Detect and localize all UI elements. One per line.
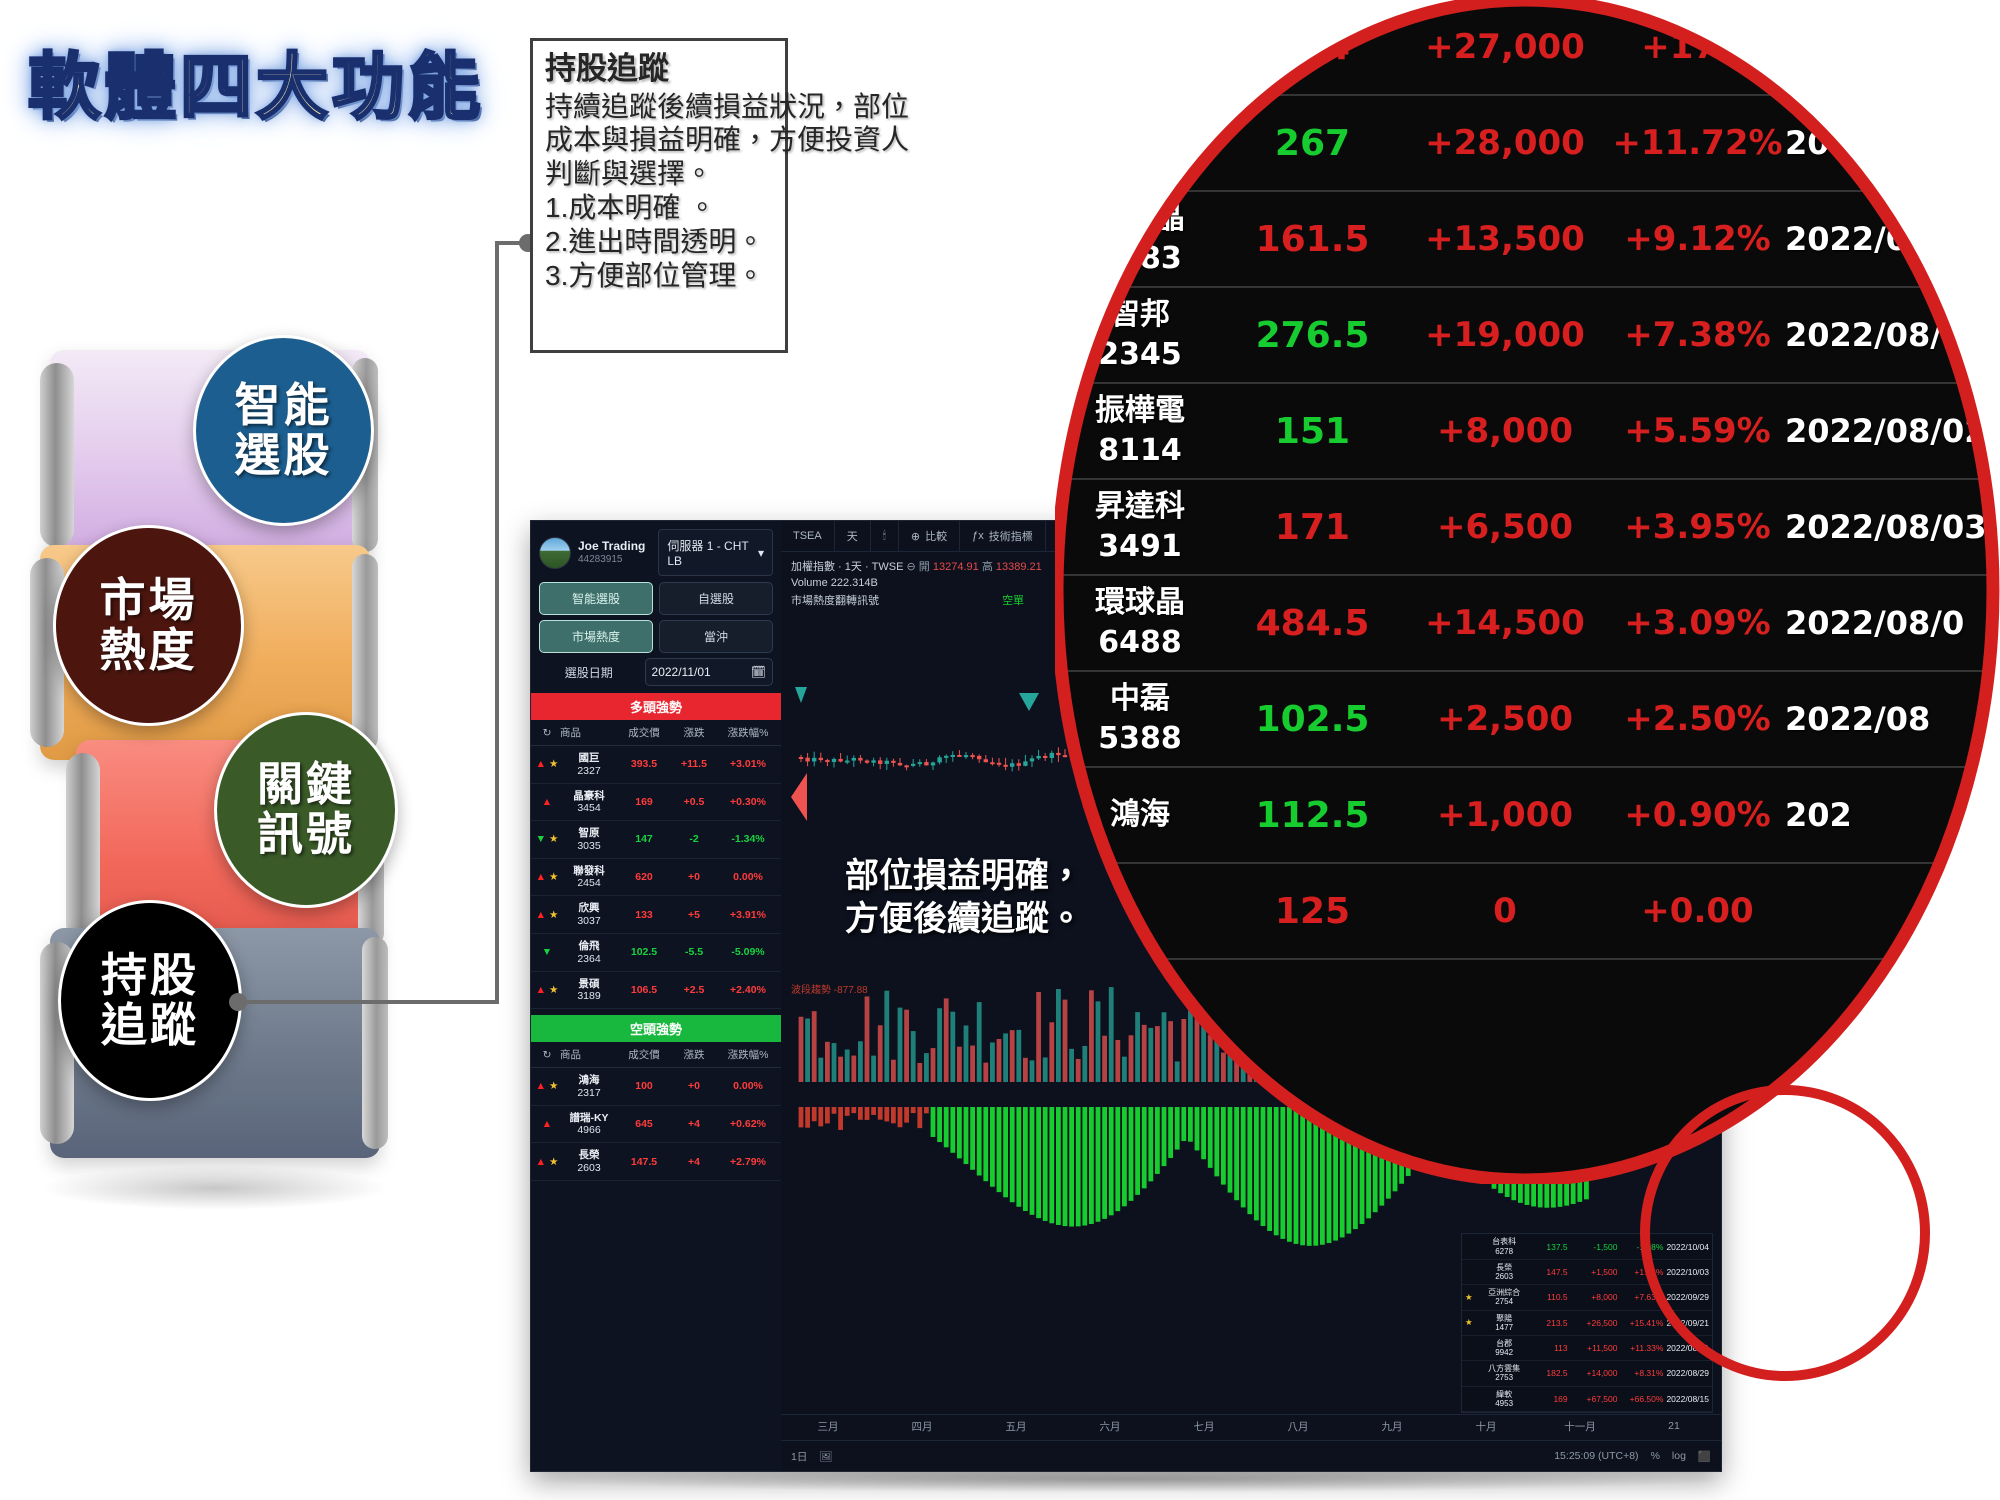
bubble-market-heat[interactable]: 市場 熱度 — [53, 525, 244, 726]
short-label: 空單 — [1002, 595, 1024, 607]
drum-rim-icon — [66, 753, 100, 942]
magnified-stock-name: 昇達科3491 — [1055, 487, 1225, 568]
magnified-price: 171 — [1225, 507, 1400, 548]
holding-name: 緯軟4953 — [1477, 1390, 1532, 1408]
server-select[interactable]: 伺服器 1 - CHT LB ▾ — [658, 529, 773, 576]
avatar — [539, 537, 571, 569]
star-icon[interactable]: ★ — [1465, 1317, 1474, 1328]
list-item[interactable]: ★聚陽1477213.5+26,500+15.41%2022/09/21 — [1462, 1311, 1712, 1336]
holding-pct: +11.33% — [1621, 1343, 1664, 1353]
magnified-holdings-region: 484+27,000+17.208267+28,000+11.72%2022中美… — [1055, 0, 2000, 1180]
volume-label: Volume — [791, 577, 828, 589]
bubble-label-line1: 智能 — [235, 381, 333, 431]
stock-name: 聯發科 — [560, 865, 618, 878]
magnified-price: 125 — [1225, 891, 1400, 932]
time-axis: 三月 四月 五月 六月 七月 八月 九月 十月 十一月 21 — [781, 1414, 1721, 1437]
stock-price: 169 — [618, 796, 670, 808]
magnified-price: 276.5 — [1225, 315, 1400, 356]
stock-change-pct: +3.91% — [718, 909, 778, 921]
stock-price: 106.5 — [618, 984, 670, 996]
stock-change-pct: -5.09% — [718, 946, 778, 958]
stock-code: 3037 — [560, 915, 618, 927]
holding-name: 聚陽1477 — [1477, 1314, 1532, 1332]
table-row: 智邦2345276.5+19,000+7.38%2022/08/0 — [1055, 288, 2000, 384]
table-row: 鴻海112.5+1,000+0.90%202 — [1055, 768, 2000, 864]
list-item[interactable]: 八方雲集2753182.5+14,000+8.31%2022/08/29 — [1462, 1361, 1712, 1386]
callout-line: 持續追蹤後續損益狀況，部位 — [545, 90, 777, 124]
table-row: 1250+0.00 — [1055, 864, 2000, 960]
star-icon[interactable]: ★ — [549, 1080, 558, 1092]
chart-info-text: 加權指數 · 1天 · TWSE — [791, 561, 903, 573]
magnified-price: 112.5 — [1225, 795, 1400, 836]
open-label: 開 — [919, 561, 930, 573]
refresh-icon[interactable]: ↻ — [534, 727, 560, 739]
holding-pl: +67,500 — [1571, 1394, 1618, 1404]
bubble-label-line1: 市場 — [100, 576, 198, 626]
x-tick: 八月 — [1251, 1419, 1345, 1434]
holding-pct: +1.03% — [1621, 1267, 1664, 1277]
bubble-label-line2: 追蹤 — [101, 1001, 199, 1051]
x-tick: 四月 — [875, 1419, 969, 1434]
x-tick: 十月 — [1439, 1419, 1533, 1434]
direction-icon: ▲ — [542, 1118, 552, 1130]
drum-shadow — [40, 1166, 390, 1210]
candlestick-icon[interactable]: 🕯 — [871, 521, 899, 551]
holding-name: 亞洲綜合2754 — [1477, 1288, 1532, 1306]
magnified-price: 484.5 — [1225, 603, 1400, 644]
macd-label: 波段趨勢 -877.88 — [791, 981, 868, 996]
log-scale-button[interactable]: log — [1672, 1450, 1686, 1462]
table-row[interactable]: ▲ ★國巨2327393.5+11.5+3.01% — [531, 746, 781, 784]
stock-code: 2364 — [560, 953, 618, 965]
magnified-price: 267 — [1225, 123, 1400, 164]
callout-line: 成本與損益明確，方便投資人 — [545, 123, 777, 157]
stock-code: 2454 — [560, 877, 618, 889]
bubble-label-line2: 選股 — [235, 431, 333, 481]
x-tick: 九月 — [1345, 1419, 1439, 1434]
stock-change-pct: -1.34% — [718, 833, 778, 845]
stock-change: +11.5 — [670, 758, 718, 770]
bubble-key-signal[interactable]: 關鍵 訊號 — [214, 712, 398, 908]
magnified-pct: +3.09% — [1610, 603, 1785, 643]
table-row: 昇達科3491171+6,500+3.95%2022/08/03 — [1055, 480, 2000, 576]
indicator-label: 技術指標 — [989, 528, 1033, 544]
stock-price: 620 — [618, 871, 670, 883]
stock-code: 4966 — [560, 1124, 618, 1136]
magnified-date: 2022/08/03 — [1785, 508, 2000, 546]
stock-price: 100 — [618, 1080, 670, 1092]
compare-button[interactable]: ⊕ 比較 — [899, 521, 960, 551]
stock-change-pct: +2.40% — [718, 984, 778, 996]
bubble-label-line2: 訊號 — [257, 810, 355, 860]
star-icon[interactable]: ★ — [549, 758, 558, 770]
calendar-icon[interactable]: 🗓 — [751, 665, 766, 679]
holding-price: 213.5 — [1534, 1318, 1567, 1328]
holding-price: 113 — [1534, 1343, 1567, 1353]
list-item[interactable]: 緯軟4953169+67,500+66.50%2022/08/15 — [1462, 1387, 1712, 1412]
stock-change-pct: +3.01% — [718, 758, 778, 770]
magnified-pl: +1,000 — [1400, 795, 1610, 835]
table-row: 中磊5388102.5+2,500+2.50%2022/08 — [1055, 672, 2000, 768]
list-item[interactable]: 長榮2603147.5+1,500+1.03%2022/10/03 — [1462, 1260, 1712, 1285]
x-tick: 21 — [1627, 1420, 1721, 1432]
tab-watchlist[interactable]: 自選股 — [659, 582, 773, 615]
magnified-stock-code: 3491 — [1055, 527, 1225, 568]
magnified-date: 2022/08/0 — [1785, 604, 2000, 642]
direction-icon: ▼ — [536, 833, 546, 845]
table-row[interactable]: ▲ ★鴻海2317100+00.00% — [531, 1068, 781, 1106]
bear-rows: ▲ ★鴻海2317100+00.00%▲譜瑞-KY4966645+4+0.62%… — [531, 1068, 781, 1181]
bubble-label-line1: 關鍵 — [257, 760, 355, 810]
auto-fit-icon[interactable]: ⬛ — [1698, 1450, 1711, 1463]
stock-change-pct: +0.30% — [718, 796, 778, 808]
stock-change: -5.5 — [670, 946, 718, 958]
magnified-stock-code: 5483 — [1055, 239, 1225, 280]
drum-rim-icon — [362, 937, 388, 1149]
stock-code: 3189 — [560, 990, 618, 1002]
stock-change-pct: 0.00% — [718, 871, 778, 883]
callout-line: 判斷與選擇。 — [545, 157, 777, 191]
magnified-pct: +17.2 — [1610, 27, 1785, 67]
tab-row-1: 智能選股 自選股 — [531, 582, 781, 620]
magnified-stock-name: 智邦2345 — [1055, 295, 1225, 376]
holding-pl: +1,500 — [1571, 1267, 1618, 1277]
holding-date: 2022/09/21 — [1666, 1318, 1709, 1328]
holding-pct: +8.31% — [1621, 1368, 1664, 1378]
holding-date: 2022/08/15 — [1666, 1394, 1709, 1404]
drum-rim-icon — [352, 554, 378, 752]
collapse-icon[interactable]: ⊖ — [907, 561, 919, 573]
chart-status-bar: 1日 🖼 15:25:09 (UTC+8) % log ⬛ — [781, 1440, 1721, 1471]
interval-1d-button[interactable]: 1日 — [791, 1449, 807, 1464]
table-row[interactable]: ▲ ★景碩3189106.5+2.5+2.40% — [531, 972, 781, 1010]
holding-pl: +14,000 — [1571, 1368, 1618, 1378]
star-icon[interactable]: ★ — [549, 909, 558, 921]
chart-interval[interactable]: 天 — [835, 521, 871, 551]
bull-section-header: 多頭強勢 — [531, 693, 781, 720]
plus-circle-icon: ⊕ — [911, 530, 920, 543]
bear-table-header: ↻ 商品 成交價 漲跌 漲跌幅% — [531, 1042, 781, 1068]
magnified-pct: +7.38% — [1610, 315, 1785, 355]
callout-box: 持股追蹤 持續追蹤後續損益狀況，部位 成本與損益明確，方便投資人 判斷與選擇。 … — [530, 38, 788, 353]
holding-price: 110.5 — [1534, 1292, 1567, 1302]
col-product: 商品 — [560, 1047, 618, 1062]
table-row[interactable]: ▼倫飛2364102.5-5.5-5.09% — [531, 934, 781, 972]
holding-date: 2022/08/29 — [1666, 1368, 1709, 1378]
callout-line: 2.進出時間透明。 — [545, 225, 777, 259]
magnified-price: 484 — [1225, 27, 1400, 68]
table-row: 08267+28,000+11.72%2022 — [1055, 96, 2000, 192]
list-item[interactable]: ★亞洲綜合2754110.5+8,000+7.63%2022/09/29 — [1462, 1285, 1712, 1310]
chevron-down-icon: ▾ — [758, 546, 764, 560]
magnified-pl: +28,000 — [1400, 123, 1610, 163]
status-time: 15:25:09 (UTC+8) — [1554, 1450, 1638, 1462]
magnified-pl: +19,000 — [1400, 315, 1610, 355]
bull-table-header: ↻ 商品 成交價 漲跌 漲跌幅% — [531, 720, 781, 746]
percent-scale-button[interactable]: % — [1651, 1450, 1660, 1462]
table-row[interactable]: ▲ ★長榮2603147.5+4+2.79% — [531, 1143, 781, 1181]
stock-change: +5 — [670, 909, 718, 921]
col-change-pct: 漲跌幅% — [718, 725, 778, 740]
stock-code: 2317 — [560, 1087, 618, 1099]
magnified-pct: +0.90% — [1610, 795, 1785, 835]
x-tick: 七月 — [1157, 1419, 1251, 1434]
holding-date: 2022/10/04 — [1666, 1242, 1709, 1252]
stock-name: 譜瑞-KY — [560, 1112, 618, 1125]
magnified-stock-name: 振樺電8114 — [1055, 391, 1225, 472]
holding-pct: +66.50% — [1621, 1394, 1664, 1404]
stock-code: 2603 — [560, 1162, 618, 1174]
magnified-stock-code: 8114 — [1055, 431, 1225, 472]
magnified-stock-code: 5388 — [1055, 719, 1225, 760]
stock-name: 長榮 — [560, 1149, 618, 1162]
holding-price: 137.5 — [1534, 1242, 1567, 1252]
col-change: 漲跌 — [670, 725, 718, 740]
magnified-price: 102.5 — [1225, 699, 1400, 740]
tab-smart-stock-pick[interactable]: 智能選股 — [539, 582, 653, 615]
holding-name: 八方雲集2753 — [1477, 1364, 1532, 1382]
holdings-mini-table[interactable]: 台表科6278137.5-1,500-1.08%2022/10/04長榮2603… — [1461, 1233, 1713, 1413]
callout-line: 3.方便部位管理。 — [545, 259, 777, 293]
high-value: 13389.21 — [996, 561, 1042, 573]
magnified-date: 2022/08 — [1785, 700, 2000, 738]
magnified-pl: +2,500 — [1400, 699, 1610, 739]
col-price: 成交價 — [618, 1047, 670, 1062]
holding-date: 2022/08/31 — [1666, 1343, 1709, 1353]
high-label: 高 — [982, 561, 993, 573]
holding-pl: +26,500 — [1571, 1318, 1618, 1328]
x-tick: 十一月 — [1533, 1419, 1627, 1434]
holding-price: 147.5 — [1534, 1267, 1567, 1277]
stock-change-pct: 0.00% — [718, 1080, 778, 1092]
table-row[interactable]: ▼ ★智原3035147-2-1.34% — [531, 821, 781, 859]
magnified-pl: +13,500 — [1400, 219, 1610, 259]
list-item[interactable]: 台郡9942113+11,500+11.33%2022/08/31 — [1462, 1336, 1712, 1361]
col-change: 漲跌 — [670, 1047, 718, 1062]
stock-name: 晶豪科 — [560, 790, 618, 803]
stock-picker-panel: Joe Trading 44283915 伺服器 1 - CHT LB ▾ 智能… — [531, 521, 782, 1471]
table-row[interactable]: ▲譜瑞-KY4966645+4+0.62% — [531, 1106, 781, 1144]
stock-name: 倫飛 — [560, 940, 618, 953]
account-name: Joe Trading — [578, 540, 645, 554]
table-row[interactable]: ▲ ★聯發科2454620+00.00% — [531, 859, 781, 897]
table-row: 中美晶5483161.5+13,500+9.12%2022/08 — [1055, 192, 2000, 288]
holding-pct: -1.08% — [1621, 1242, 1664, 1252]
holding-pct: +15.41% — [1621, 1318, 1664, 1328]
holding-pl: -1,500 — [1571, 1242, 1618, 1252]
tab-market-heat[interactable]: 市場熱度 — [539, 620, 653, 653]
tab-day-trade[interactable]: 當沖 — [659, 620, 773, 653]
table-row: 484+27,000+17.2 — [1055, 0, 2000, 96]
refresh-icon[interactable]: ↻ — [534, 1049, 560, 1061]
star-icon[interactable]: ★ — [549, 984, 558, 996]
col-product: 商品 — [560, 725, 618, 740]
date-input[interactable]: 2022/11/01 🗓 — [645, 658, 773, 686]
stock-change: +0 — [670, 1080, 718, 1092]
volume-value: 222.314B — [831, 577, 878, 589]
bubble-smart-stock-pick[interactable]: 智能 選股 — [193, 335, 374, 526]
stock-code: 3035 — [560, 840, 618, 852]
indicator-button[interactable]: ƒx 技術指標 — [960, 521, 1046, 551]
star-icon[interactable]: ★ — [549, 1156, 558, 1168]
table-row[interactable]: ▲ ★欣興3037133+5+3.91% — [531, 896, 781, 934]
holding-pl: +11,500 — [1571, 1343, 1618, 1353]
x-tick: 三月 — [781, 1419, 875, 1434]
holding-pl: +8,000 — [1571, 1292, 1618, 1302]
date-row: 選股日期 2022/11/01 🗓 — [531, 658, 781, 693]
date-value: 2022/11/01 — [652, 665, 711, 679]
stock-change: +2.5 — [670, 984, 718, 996]
chart-symbol[interactable]: TSEA — [781, 521, 835, 551]
account-row: Joe Trading 44283915 伺服器 1 - CHT LB ▾ — [531, 521, 781, 582]
holding-date: 2022/10/03 — [1666, 1267, 1709, 1277]
stock-name: 國巨 — [560, 752, 618, 765]
star-icon[interactable]: ★ — [549, 871, 558, 883]
col-price: 成交價 — [618, 725, 670, 740]
direction-icon: ▲ — [536, 871, 546, 883]
magnified-pct: +2.50% — [1610, 699, 1785, 739]
bubble-holding-tracking[interactable]: 持股 追蹤 — [58, 900, 242, 1101]
holding-pct: +7.63% — [1621, 1292, 1664, 1302]
magnified-pl: +8,000 — [1400, 411, 1610, 451]
stock-change: +0 — [670, 871, 718, 883]
stock-change-pct: +2.79% — [718, 1156, 778, 1168]
magnified-pct: +0.00 — [1610, 891, 1785, 931]
server-label: 伺服器 1 - CHT LB — [667, 537, 758, 568]
magnified-stock-code: 08 — [1055, 123, 1225, 164]
magnified-stock-name: 環球晶6488 — [1055, 583, 1225, 664]
stock-price: 102.5 — [618, 946, 670, 958]
magnified-stock-name: 中美晶5483 — [1055, 199, 1225, 280]
magnified-pl: +27,000 — [1400, 27, 1610, 67]
compare-label: 比較 — [925, 528, 947, 544]
bubble-label-line2: 熱度 — [100, 626, 198, 676]
market-heat-label: 市場熱度翻轉訊號 — [791, 595, 879, 607]
magnified-pct: +11.72% — [1610, 123, 1785, 163]
magnified-date: 2022/08/02 — [1785, 412, 2000, 450]
holding-price: 182.5 — [1534, 1368, 1567, 1378]
tab-row-2: 市場熱度 當沖 — [531, 620, 781, 658]
stock-change: +4 — [670, 1118, 718, 1130]
x-tick: 六月 — [1063, 1419, 1157, 1434]
fx-icon: ƒx — [972, 530, 984, 542]
direction-icon: ▲ — [536, 1080, 546, 1092]
magnified-stock-name: 中磊5388 — [1055, 679, 1225, 760]
table-row: 環球晶6488484.5+14,500+3.09%2022/08/0 — [1055, 576, 2000, 672]
stock-price: 147.5 — [618, 1156, 670, 1168]
list-item[interactable]: 台表科6278137.5-1,500-1.08%2022/10/04 — [1462, 1234, 1712, 1259]
stock-change: +4 — [670, 1156, 718, 1168]
stock-name: 智原 — [560, 827, 618, 840]
account-id: 44283915 — [578, 554, 645, 565]
col-change-pct: 漲跌幅% — [718, 1047, 778, 1062]
magnified-date: 2022/08/0 — [1785, 316, 2000, 354]
stock-change: +0.5 — [670, 796, 718, 808]
magnified-pct: +5.59% — [1610, 411, 1785, 451]
page-title: 軟體四大功能 — [28, 28, 484, 133]
magnified-pct: +9.12% — [1610, 219, 1785, 259]
magnified-price: 151 — [1225, 411, 1400, 452]
open-value: 13274.91 — [933, 561, 979, 573]
magnified-pl: +14,500 — [1400, 603, 1610, 643]
stock-price: 147 — [618, 833, 670, 845]
drum-rim-icon — [40, 363, 74, 548]
magnified-stock-code: 2345 — [1055, 335, 1225, 376]
magnified-stock-code: 6488 — [1055, 623, 1225, 664]
direction-icon: ▲ — [536, 909, 546, 921]
callout-line: 1.成本明確 。 — [545, 191, 777, 225]
stock-change: -2 — [670, 833, 718, 845]
direction-icon: ▲ — [536, 984, 546, 996]
direction-icon: ▲ — [536, 1156, 546, 1168]
stock-change-pct: +0.62% — [718, 1118, 778, 1130]
magnified-pct: +3.95% — [1610, 507, 1785, 547]
magnified-stock-name: 08 — [1055, 123, 1225, 164]
stock-price: 645 — [618, 1118, 670, 1130]
stock-name: 景碩 — [560, 978, 618, 991]
direction-icon: ▲ — [542, 796, 552, 808]
holding-name: 台郡9942 — [1477, 1339, 1532, 1357]
table-row[interactable]: ▲晶豪科3454169+0.5+0.30% — [531, 784, 781, 822]
bubble-label-line1: 持股 — [101, 951, 199, 1001]
table-row: 振樺電8114151+8,000+5.59%2022/08/02 — [1055, 384, 2000, 480]
x-tick: 五月 — [969, 1419, 1063, 1434]
bear-section-header: 空頭強勢 — [531, 1015, 781, 1042]
holding-date: 2022/09/29 — [1666, 1292, 1709, 1302]
stock-code: 3454 — [560, 802, 618, 814]
magnified-price: 161.5 — [1225, 219, 1400, 260]
stock-price: 393.5 — [618, 758, 670, 770]
date-label: 選股日期 — [539, 664, 639, 681]
magnified-pl: +6,500 — [1400, 507, 1610, 547]
magnified-date: 2022 — [1785, 124, 2000, 162]
magnified-date: 202 — [1785, 796, 2000, 834]
direction-icon: ▲ — [536, 758, 546, 770]
magnified-pl: 0 — [1400, 891, 1610, 931]
holding-name: 長榮2603 — [1477, 1263, 1532, 1281]
star-icon[interactable]: ★ — [1465, 1292, 1474, 1303]
holding-name: 台表科6278 — [1477, 1237, 1532, 1255]
stock-name: 欣興 — [560, 902, 618, 915]
holding-price: 169 — [1534, 1394, 1567, 1404]
callout-title: 持股追蹤 — [545, 51, 777, 88]
magnified-date: 2022/08 — [1785, 220, 2000, 258]
star-icon[interactable]: ★ — [549, 833, 558, 845]
magnified-holdings-table: 484+27,000+17.208267+28,000+11.72%2022中美… — [1055, 0, 2000, 960]
stock-name: 鴻海 — [560, 1074, 618, 1087]
snapshot-icon[interactable]: 🖼 — [819, 1450, 832, 1463]
stock-price: 133 — [618, 909, 670, 921]
direction-icon: ▼ — [542, 946, 552, 958]
magnified-stock-name: 鴻海 — [1055, 795, 1225, 836]
bull-rows: ▲ ★國巨2327393.5+11.5+3.01%▲晶豪科3454169+0.5… — [531, 746, 781, 1009]
stock-code: 2327 — [560, 765, 618, 777]
